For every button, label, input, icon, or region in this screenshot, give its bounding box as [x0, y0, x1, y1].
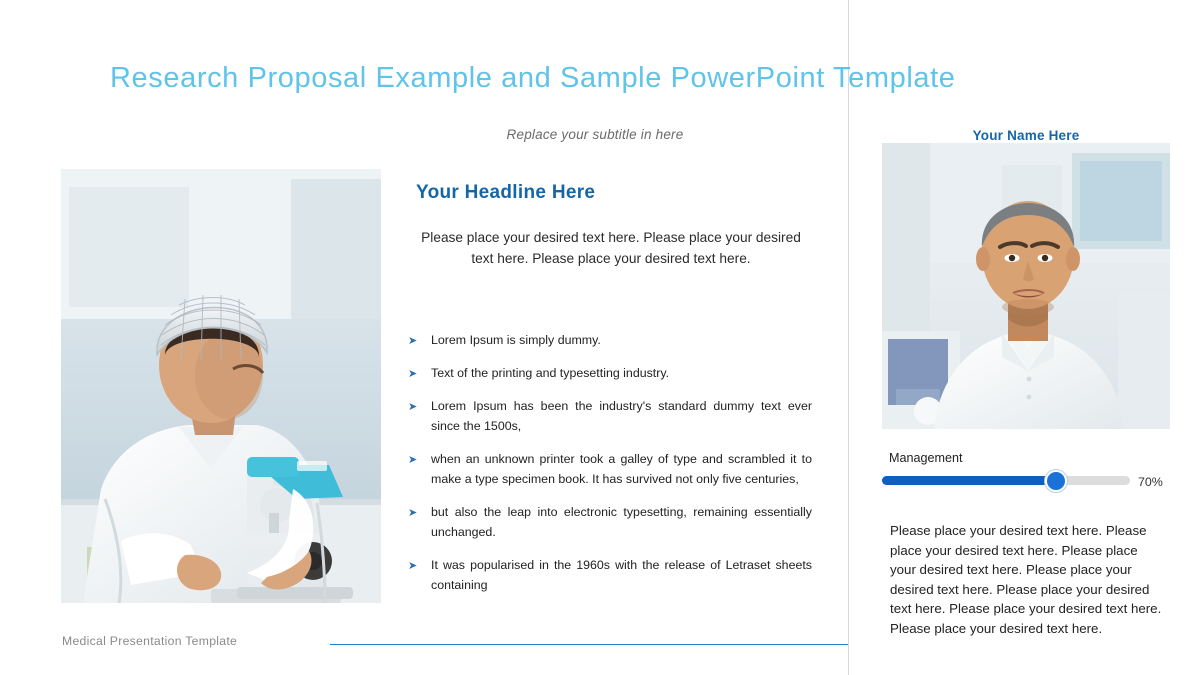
list-item-text: Text of the printing and typesetting ind…	[431, 366, 669, 380]
list-item: ➤ Lorem Ipsum is simply dummy.	[408, 330, 812, 350]
bullet-arrow-icon: ➤	[408, 331, 417, 351]
scientist-using-microscope-icon	[61, 169, 381, 603]
bullet-arrow-icon: ➤	[408, 397, 417, 417]
intro-paragraph: Please place your desired text here. Ple…	[414, 227, 808, 269]
bullet-arrow-icon: ➤	[408, 503, 417, 523]
list-item: ➤ but also the leap into electronic type…	[408, 502, 812, 542]
list-item-text: Lorem Ipsum is simply dummy.	[431, 333, 601, 347]
slider-handle[interactable]	[1045, 470, 1067, 492]
list-item: ➤ Text of the printing and typesetting i…	[408, 363, 812, 383]
footer-label: Medical Presentation Template	[62, 634, 237, 648]
skill-slider[interactable]	[882, 476, 1130, 485]
list-item-text: when an unknown printer took a galley of…	[431, 452, 812, 486]
list-item: ➤ It was popularised in the 1960s with t…	[408, 555, 812, 595]
bullet-arrow-icon: ➤	[408, 556, 417, 576]
list-item-text: Lorem Ipsum has been the industry's stan…	[431, 399, 812, 433]
footer-divider	[330, 644, 848, 645]
left-photo	[61, 169, 381, 603]
list-item-text: but also the leap into electronic typese…	[431, 505, 812, 539]
profile-photo	[882, 143, 1170, 429]
bullet-arrow-icon: ➤	[408, 364, 417, 384]
list-item: ➤ when an unknown printer took a galley …	[408, 449, 812, 489]
slide-subtitle: Replace your subtitle in here	[380, 127, 810, 142]
profile-name-label: Your Name Here	[882, 128, 1170, 143]
bullet-arrow-icon: ➤	[408, 450, 417, 470]
skill-label: Management	[889, 451, 963, 465]
bullet-list: ➤ Lorem Ipsum is simply dummy. ➤ Text of…	[408, 330, 812, 608]
slider-fill	[882, 476, 1056, 485]
portrait-photo-icon	[882, 143, 1170, 429]
slide-canvas: Research Proposal Example and Sample Pow…	[0, 0, 1200, 675]
skill-percent-value: 70%	[1138, 475, 1163, 489]
page-title: Research Proposal Example and Sample Pow…	[110, 62, 850, 95]
list-item-text: It was popularised in the 1960s with the…	[431, 558, 812, 592]
list-item: ➤ Lorem Ipsum has been the industry's st…	[408, 396, 812, 436]
content-headline: Your Headline Here	[416, 182, 595, 204]
right-paragraph: Please place your desired text here. Ple…	[890, 521, 1162, 639]
vertical-divider	[848, 0, 849, 675]
